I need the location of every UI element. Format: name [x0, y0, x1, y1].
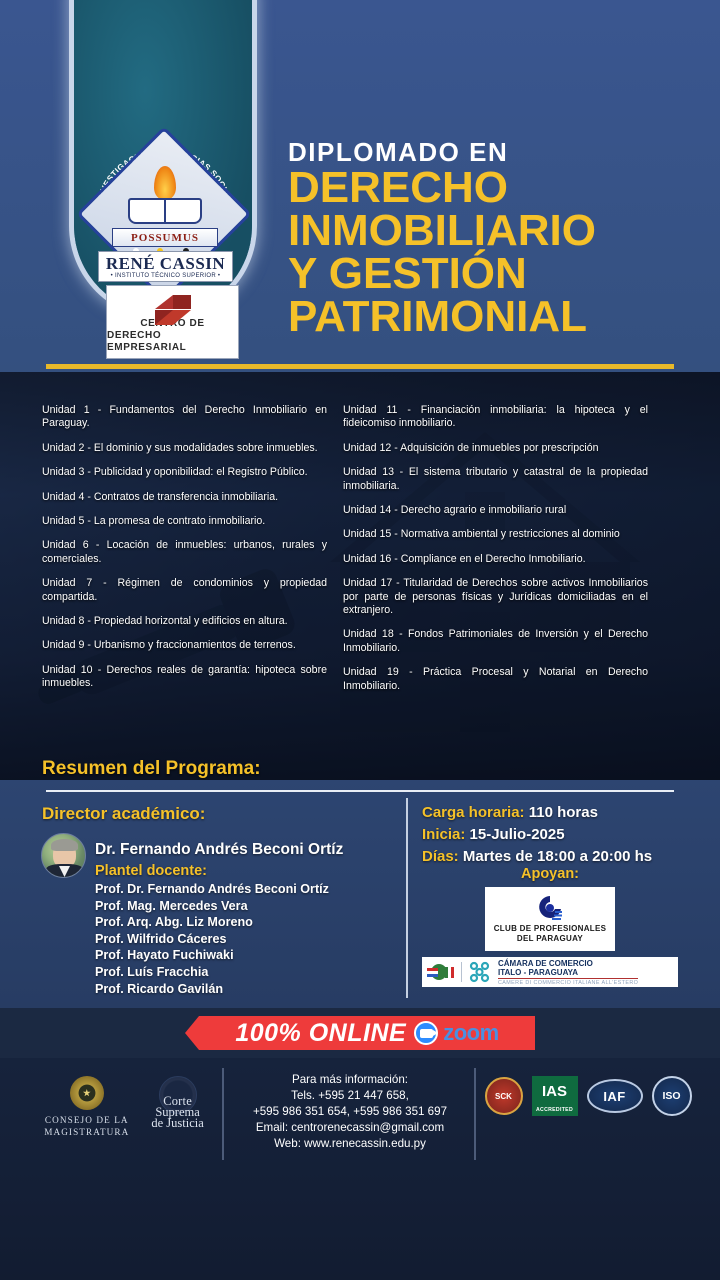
sponsor-camara-line1: CÁMARA DE COMERCIO [498, 959, 638, 968]
faculty-section-title: Plantel docente: [95, 863, 207, 879]
logo-separator [461, 962, 462, 982]
iaf-label: IAF [603, 1089, 625, 1104]
list-item: Prof. Ricardo Gavilán [95, 981, 329, 998]
video-camera-icon [414, 1021, 438, 1045]
director-avatar [41, 833, 86, 878]
program-unit: Unidad 16 - Compliance en el Derecho Inm… [343, 553, 648, 566]
header-banner: CENTRO DE INVESTIGACIÓN EN CIENCIAS SOCI… [0, 0, 720, 372]
ias-sub: ACCREDITED [536, 1107, 573, 1113]
zoom-wordmark: zoom [443, 1020, 498, 1046]
program-columns: Unidad 1 - Fundamentos del Derecho Inmob… [0, 404, 720, 704]
sponsors-title: Apoyan: [422, 866, 678, 882]
program-unit: Unidad 13 - El sistema tributario y cata… [343, 466, 648, 493]
program-unit: Unidad 12 - Adquisición de inmuebles por… [343, 442, 648, 455]
club-profesionales-icon [536, 895, 564, 921]
consejo-magistratura-logo: CONSEJO DE LA MAGISTRATURA [44, 1076, 129, 1138]
program-unit: Unidad 6 - Locación de inmuebles: urbano… [42, 539, 327, 566]
consejo-line2: MAGISTRATURA [44, 1126, 129, 1138]
online-banner: 100% ONLINE zoom [0, 1008, 720, 1058]
eyebrow-text: DIPLOMADO EN [288, 138, 708, 166]
sponsor-club-line1: CLUB DE PROFESIONALES [494, 924, 607, 934]
footer-divider-left [222, 1068, 224, 1160]
consejo-seal-icon [70, 1076, 104, 1110]
list-item: Prof. Arq. Abg. Liz Moreno [95, 914, 329, 931]
book-icon [128, 198, 202, 224]
ias-badge-icon: IAS ACCREDITED [532, 1076, 578, 1116]
title-line-1: DERECHO [288, 166, 708, 209]
details-section: Director académico: Dr. Fernando Andrés … [0, 780, 720, 1008]
course-hours-value: 110 horas [529, 804, 598, 821]
poster: CENTRO DE INVESTIGACIÓN EN CIENCIAS SOCI… [0, 0, 720, 1280]
iso-badge-icon: ISO [652, 1076, 692, 1116]
header-divider [46, 364, 674, 369]
footer-section: CONSEJO DE LA MAGISTRATURA Corte Suprema… [0, 1058, 720, 1280]
program-section: Resumen del Programa: Unidad 1 - Fundame… [0, 372, 720, 780]
director-name: Dr. Fernando Andrés Beconi Ortíz [95, 841, 343, 859]
program-unit: Unidad 18 - Fondos Patrimoniales de Inve… [343, 628, 648, 655]
institute-logo-plate: RENÉ CASSIN • INSTITUTO TÉCNICO SUPERIOR… [98, 251, 233, 282]
program-unit: Unidad 15 - Normativa ambiental y restri… [343, 528, 648, 541]
sponsor-logo-camara: CÁMARA DE COMERCIO ITALO - PARAGUAYA CAM… [422, 957, 678, 987]
contact-phones-1: Tels. +595 21 447 658, [232, 1088, 468, 1104]
center-logo-plate: CENTRO DE DERECHO EMPRESARIAL [106, 285, 239, 359]
sponsor-camara-text: CÁMARA DE COMERCIO ITALO - PARAGUAYA CAM… [498, 959, 638, 986]
corte-suprema-logo: Corte Suprema de Justicia [151, 1076, 203, 1129]
sck-badge-icon: SCK [485, 1077, 523, 1115]
sck-label: SCK [495, 1092, 512, 1101]
program-unit: Unidad 7 - Régimen de condominios y prop… [42, 577, 327, 604]
contact-web[interactable]: Web: www.renecassin.edu.py [232, 1136, 468, 1152]
course-start-label: Inicia: [422, 826, 465, 843]
crest-motto: POSSUMUS [131, 232, 199, 244]
course-days-value: Martes de 18:00 a 20:00 hs [463, 848, 652, 865]
consejo-line1: CONSEJO DE LA [44, 1114, 129, 1126]
program-unit: Unidad 11 - Financiación inmobiliaria: l… [343, 404, 648, 431]
course-hours-row: Carga horaria: 110 horas [422, 802, 652, 824]
program-unit: Unidad 10 - Derechos reales de garantía:… [42, 664, 327, 691]
title-line-2: INMOBILIARIO [288, 209, 708, 252]
program-unit: Unidad 17 - Titularidad de Derechos sobr… [343, 577, 648, 617]
flags-icon [426, 962, 456, 982]
iaf-badge-icon: IAF [587, 1079, 643, 1113]
title-line-3: Y GESTIÓN [288, 252, 708, 295]
contact-email[interactable]: Email: centrorenecassin@gmail.com [232, 1120, 468, 1136]
center-line2: DERECHO EMPRESARIAL [107, 330, 238, 354]
faculty-list: Prof. Dr. Fernando Andrés Beconi Ortíz P… [95, 881, 329, 997]
program-unit: Unidad 9 - Urbanismo y fraccionamientos … [42, 639, 327, 652]
online-label: 100% ONLINE [235, 1019, 406, 1048]
program-unit: Unidad 3 - Publicidad y oponibilidad: el… [42, 466, 327, 479]
sponsor-camara-line2: ITALO - PARAGUAYA [498, 968, 638, 977]
course-start-row: Inicia: 15-Julio-2025 [422, 824, 652, 846]
contact-block: Para más información: Tels. +595 21 447 … [232, 1072, 468, 1152]
program-title: Resumen del Programa: [42, 758, 261, 780]
program-unit: Unidad 19 - Práctica Procesal y Notarial… [343, 666, 648, 693]
corte-line3: de Justicia [151, 1118, 203, 1129]
column-divider [406, 798, 408, 998]
program-unit: Unidad 1 - Fundamentos del Derecho Inmob… [42, 404, 327, 431]
ias-label: IAS [536, 1084, 573, 1099]
list-item: Prof. Dr. Fernando Andrés Beconi Ortíz [95, 881, 329, 898]
course-info: Carga horaria: 110 horas Inicia: 15-Juli… [422, 802, 652, 868]
course-start-value: 15-Julio-2025 [470, 826, 565, 843]
online-ribbon: 100% ONLINE zoom [185, 1016, 535, 1050]
institute-subtitle: • INSTITUTO TÉCNICO SUPERIOR • [111, 273, 221, 279]
institute-name: RENÉ CASSIN [106, 255, 225, 272]
accreditation-badges: SCK IAS ACCREDITED IAF ISO [486, 1076, 690, 1116]
corte-text: Corte Suprema de Justicia [151, 1096, 203, 1129]
sponsor-camara-line3: CAMERE DI COMMERCIO ITALIANE ALL'ESTERO [498, 978, 638, 986]
program-column-left: Unidad 1 - Fundamentos del Derecho Inmob… [0, 404, 335, 704]
course-days-label: Días: [422, 848, 459, 865]
course-hours-label: Carga horaria: [422, 804, 525, 821]
sponsors-block: Apoyan: CLUB DE PROFESIONALES DEL PARAGU… [422, 866, 678, 987]
camara-swirl-icon [467, 961, 493, 983]
program-column-right: Unidad 11 - Financiación inmobiliaria: l… [335, 404, 670, 704]
title-block: DIPLOMADO EN DERECHO INMOBILIARIO Y GEST… [288, 138, 708, 338]
title-line-4: PATRIMONIAL [288, 295, 708, 338]
crest-motto-banner: POSSUMUS [112, 228, 218, 247]
iso-label: ISO [662, 1090, 680, 1102]
zoom-badge: zoom [414, 1020, 498, 1046]
course-days-row: Días: Martes de 18:00 a 20:00 hs [422, 846, 652, 868]
program-unit: Unidad 4 - Contratos de transferencia in… [42, 491, 327, 504]
sponsor-club-line2: DEL PARAGUAY [517, 934, 583, 944]
footer-divider-right [474, 1068, 476, 1160]
program-unit: Unidad 14 - Derecho agrario e inmobiliar… [343, 504, 648, 517]
list-item: Prof. Wilfrido Cáceres [95, 931, 329, 948]
list-item: Prof. Mag. Mercedes Vera [95, 898, 329, 915]
footer-institution-logos: CONSEJO DE LA MAGISTRATURA Corte Suprema… [36, 1076, 212, 1138]
avatar-hair [51, 839, 78, 851]
contact-phones-2: +595 986 351 654, +595 986 351 697 [232, 1104, 468, 1120]
center-mark-icon [151, 293, 195, 327]
director-section-title: Director académico: [42, 804, 205, 824]
sponsor-logo-club: CLUB DE PROFESIONALES DEL PARAGUAY [485, 887, 615, 951]
program-unit: Unidad 2 - El dominio y sus modalidades … [42, 442, 327, 455]
program-unit: Unidad 8 - Propiedad horizontal y edific… [42, 615, 327, 628]
list-item: Prof. Luís Fracchia [95, 964, 329, 981]
contact-heading: Para más información: [232, 1072, 468, 1088]
list-item: Prof. Hayato Fuchiwaki [95, 947, 329, 964]
program-unit: Unidad 5 - La promesa de contrato inmobi… [42, 515, 327, 528]
section-divider [46, 790, 674, 792]
